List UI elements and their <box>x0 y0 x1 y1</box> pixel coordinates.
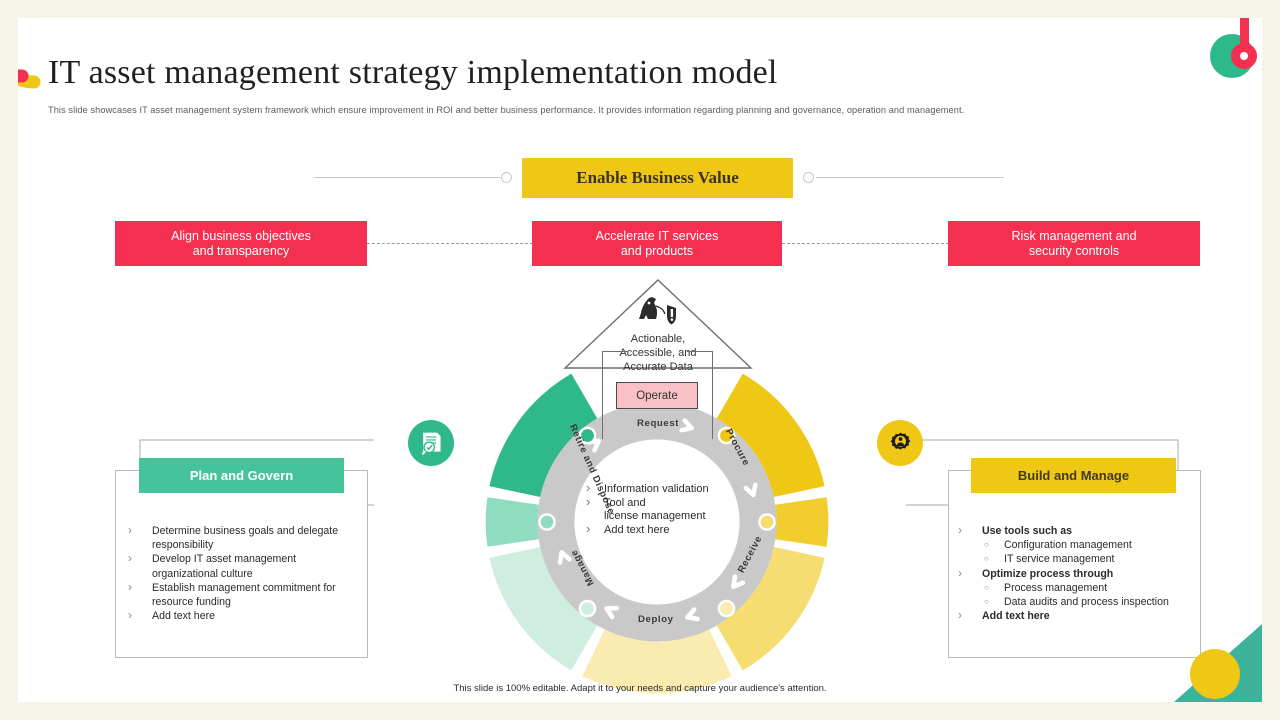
donut-center-content: Information validation Tool and license … <box>583 483 733 563</box>
knight-shield-icon <box>635 294 681 328</box>
panel-left-list: Determine business goals and delegate re… <box>122 524 362 623</box>
document-magnifier-glyph <box>418 430 444 456</box>
operate-box[interactable]: Operate <box>616 382 698 409</box>
panel-right-title[interactable]: Build and Manage <box>971 458 1176 493</box>
sub-list-item: Configuration management <box>982 538 1194 552</box>
donut-center-item: Tool and license management <box>583 497 733 524</box>
enable-business-value-banner[interactable]: Enable Business Value <box>522 158 793 198</box>
donut-center-list: Information validation Tool and license … <box>583 483 733 537</box>
pillar-2-line1: Accelerate IT services <box>596 229 719 244</box>
list-item: Develop IT asset management organization… <box>122 552 362 580</box>
pillar-3-line1: Risk management and <box>1011 229 1136 244</box>
gear-person-icon[interactable] <box>877 420 923 466</box>
pillar-1-line2: and transparency <box>193 244 290 259</box>
operate-bracket-left <box>602 351 603 439</box>
banner-connector-left <box>314 177 500 178</box>
donut-center-item: Information validation <box>583 483 733 497</box>
corner-decoration-top-left <box>18 18 100 98</box>
donut-outer-manage-mid <box>486 497 539 547</box>
corner-decoration-bottom-right <box>1160 622 1262 702</box>
list-item: Add text here <box>952 609 1194 623</box>
list-item: Use tools such as Configuration manageme… <box>952 524 1194 567</box>
operate-bracket-top-right <box>687 351 713 352</box>
footer-note: This slide is 100% editable. Adapt it to… <box>18 683 1262 694</box>
pillar-2-line2: and products <box>621 244 693 259</box>
pillar-connector-left <box>367 243 533 244</box>
donut-node-manage-mid <box>539 514 554 529</box>
operate-bracket-top-left <box>602 351 628 352</box>
donut-node-manage <box>580 601 595 616</box>
donut-outer-procure <box>775 497 828 547</box>
donut-label-deploy: Deploy <box>638 614 674 625</box>
pillar-3-line2: security controls <box>1029 244 1119 259</box>
banner-node-right <box>803 172 814 183</box>
donut-node-procure <box>759 514 774 529</box>
slide-canvas: IT asset management strategy implementat… <box>18 18 1262 702</box>
list-item: Optimize process through Process managem… <box>952 567 1194 610</box>
sub-list-item: Data audits and process inspection <box>982 595 1194 609</box>
banner-connector-right <box>816 177 1004 178</box>
page-subtitle: This slide showcases IT asset management… <box>48 105 964 115</box>
pillar-align-business-objectives[interactable]: Align business objectives and transparen… <box>115 221 367 266</box>
banner-node-left <box>501 172 512 183</box>
list-item: Add text here <box>122 609 362 623</box>
list-item: Determine business goals and delegate re… <box>122 524 362 552</box>
sub-list-item: Process management <box>982 581 1194 595</box>
gear-person-glyph <box>888 431 913 456</box>
page-title: IT asset management strategy implementat… <box>48 54 778 92</box>
pillar-risk-management[interactable]: Risk management and security controls <box>948 221 1200 266</box>
donut-node-receive <box>719 601 734 616</box>
donut-center-item: Add text here <box>583 524 733 538</box>
pillar-accelerate-it-services[interactable]: Accelerate IT services and products <box>532 221 782 266</box>
operate-bracket-right <box>712 351 713 439</box>
pillar-1-line1: Align business objectives <box>171 229 311 244</box>
panel-left-title[interactable]: Plan and Govern <box>139 458 344 493</box>
list-item: Establish management commitment for reso… <box>122 581 362 609</box>
document-magnifier-icon[interactable] <box>408 420 454 466</box>
sub-list-item: IT service management <box>982 552 1194 566</box>
triangle-label-line1: Actionable, <box>578 332 738 346</box>
panel-right-list: Use tools such as Configuration manageme… <box>952 524 1194 623</box>
donut-label-request: Request <box>637 418 679 429</box>
corner-decoration-top-right <box>1204 18 1262 84</box>
pillar-connector-right <box>782 243 949 244</box>
